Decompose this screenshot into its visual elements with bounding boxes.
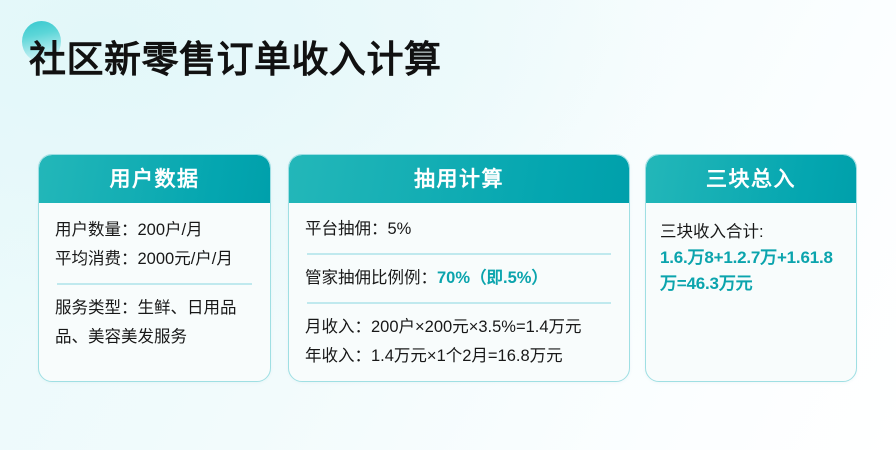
cards-row: 用户数据 用户数量：200户/月 平均消费：2000元/户/月 服务类型：生鲜、… (0, 154, 896, 386)
card-user-data-title: 用户数据 (110, 169, 200, 190)
divider (307, 253, 611, 255)
card-total-title: 三块总入 (706, 169, 796, 190)
row-monthly-income: 月收入：200户×200元×3.5%=1.4万元 (305, 313, 613, 342)
card-user-data: 用户数据 用户数量：200户/月 平均消费：2000元/户/月 服务类型：生鲜、… (38, 154, 271, 382)
row-service-types: 服务类型：生鲜、日用品品、美容美发服务 (55, 294, 254, 352)
row-total-amount: 1.6.万8+1.2.7万+1.61.8万=46.3万元 (660, 245, 840, 297)
card-user-data-body: 用户数量：200户/月 平均消费：2000元/户/月 服务类型：生鲜、日用品品、… (39, 203, 270, 362)
row-total-label: 三块收入合计: (660, 219, 840, 245)
card-user-data-header: 用户数据 (39, 155, 270, 203)
row-manager-commission: 管家抽佣比例例：70%（即.5%） (305, 264, 613, 293)
page-title: 社区新零售订单收入计算 (29, 36, 442, 84)
row-average-spend: 平均消费：2000元/户/月 (55, 245, 254, 274)
card-commission-header: 抽用计算 (289, 155, 629, 203)
divider (57, 283, 252, 285)
row-platform-commission: 平台抽佣：5% (305, 215, 613, 244)
card-total: 三块总入 三块收入合计: 1.6.万8+1.2.7万+1.61.8万=46.3万… (645, 154, 857, 382)
divider (307, 302, 611, 304)
row-manager-commission-value: 70%（即.5%） (437, 269, 548, 287)
slide-canvas: 社区新零售订单收入计算 用户数据 用户数量：200户/月 平均消费：2000元/… (0, 0, 896, 450)
card-total-header: 三块总入 (646, 155, 856, 203)
row-yearly-income: 年收入：1.4万元×1个2月=16.8万元 (305, 342, 613, 371)
card-commission: 抽用计算 平台抽佣：5% 管家抽佣比例例：70%（即.5%） 月收入：200户×… (288, 154, 630, 382)
row-user-count: 用户数量：200户/月 (55, 216, 254, 245)
slide-header: 社区新零售订单收入计算 (0, 0, 896, 120)
card-commission-title: 抽用计算 (414, 169, 504, 190)
row-manager-commission-label: 管家抽佣比例例： (305, 269, 437, 287)
card-total-body: 三块收入合计: 1.6.万8+1.2.7万+1.61.8万=46.3万元 (646, 203, 856, 307)
card-commission-body: 平台抽佣：5% 管家抽佣比例例：70%（即.5%） 月收入：200户×200元×… (289, 203, 629, 381)
